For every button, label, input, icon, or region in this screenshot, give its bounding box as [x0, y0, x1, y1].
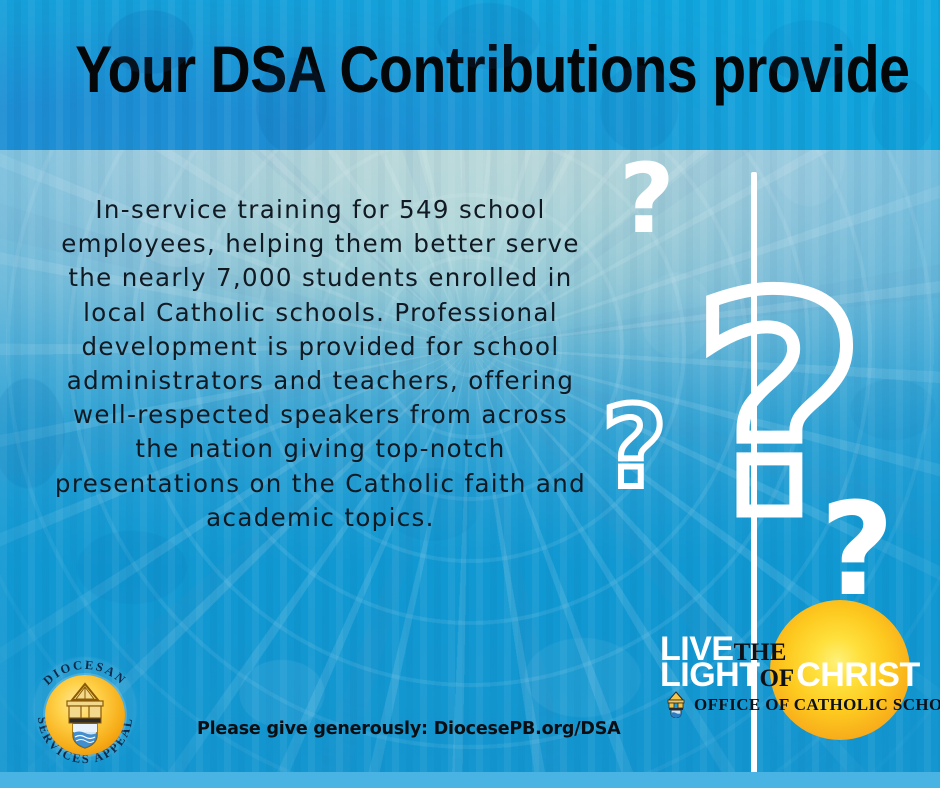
dsa-contributions-poster: Your DSA Contributions provide ? ? ? ? I…: [0, 0, 940, 788]
bishop-crest-icon: [662, 690, 690, 718]
logo-line-2: LIGHT OF CHRIST: [660, 658, 920, 692]
dsa-seal-logo: DIOCESAN SERVICES APPEAL: [26, 656, 144, 774]
question-mark-outline-small-icon: ?: [602, 392, 667, 504]
logo-christ-text: CHRIST: [796, 658, 920, 692]
logo-of-text: OF: [759, 666, 794, 691]
body-copy: In-service training for 549 school emplo…: [48, 193, 593, 535]
donate-call-to-action[interactable]: Please give generously: DiocesePB.org/DS…: [197, 719, 620, 739]
seal-coat-of-arms-icon: [45, 675, 125, 755]
logo-light-text: LIGHT: [660, 658, 759, 692]
office-of-catholic-schools-logo: LIVE THE LIGHT OF CHRIST OFFICE OF CATHO…: [660, 632, 928, 708]
page-title: Your DSA Contributions provide: [75, 30, 865, 108]
logo-office-line: OFFICE OF CATHOLIC SCHOOLS: [694, 695, 940, 714]
question-mark-solid-small-icon: ?: [619, 151, 675, 247]
bottom-accent-bar: [0, 772, 940, 788]
header-band: Your DSA Contributions provide: [0, 0, 940, 150]
